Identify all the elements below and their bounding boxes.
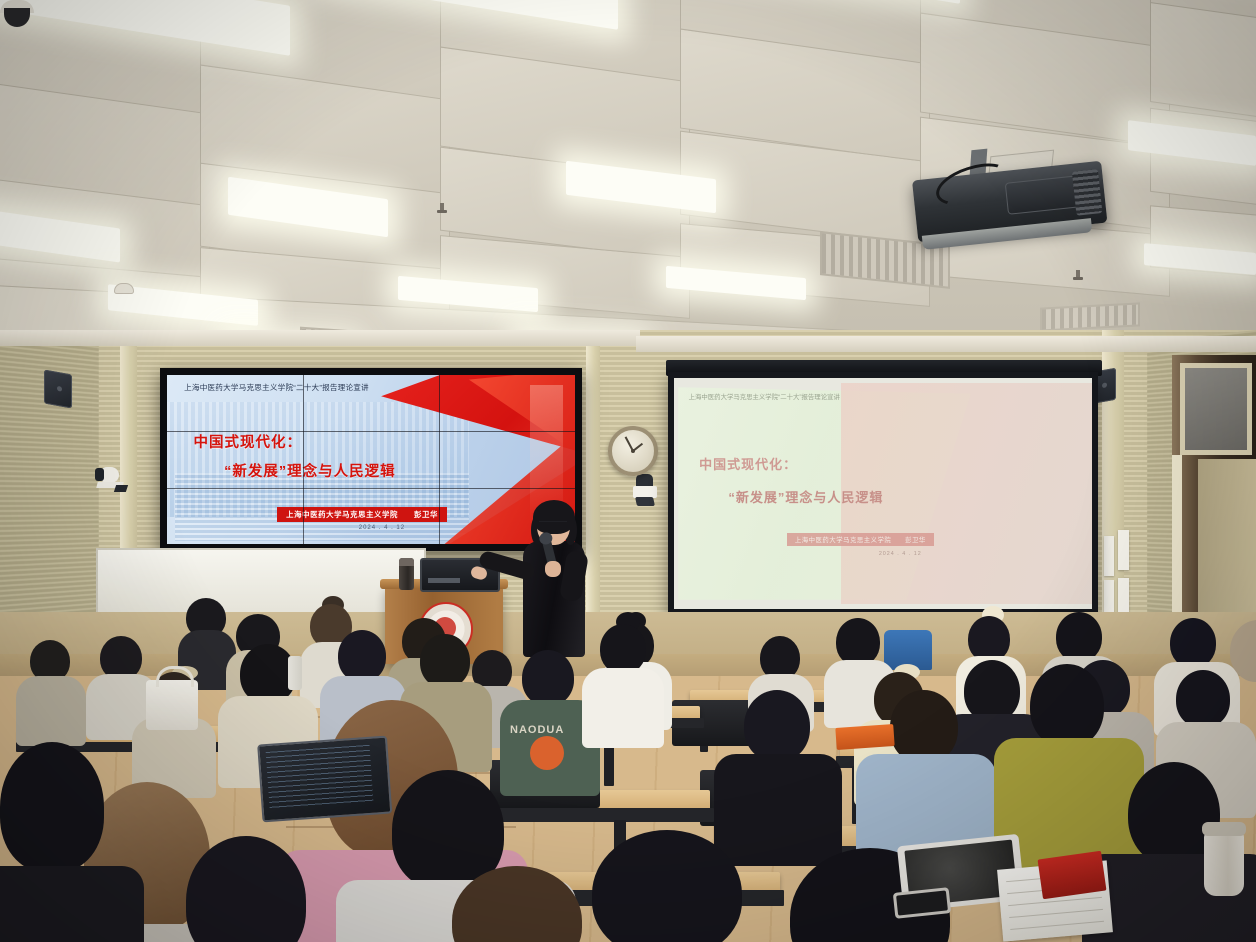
projector-vent bbox=[1072, 169, 1102, 215]
sprinkler-icon bbox=[1073, 270, 1083, 282]
lecturer bbox=[507, 505, 601, 657]
wall-clock bbox=[608, 426, 658, 476]
whiteboard bbox=[96, 548, 426, 620]
proj-header-text: 上海中医药大学马克思主义学院“二十大”报告理论宣讲 bbox=[689, 394, 931, 403]
paper-notice bbox=[1104, 580, 1114, 616]
air-vent bbox=[1040, 302, 1140, 331]
presentation-slide-projected: 上海中医药大学马克思主义学院“二十大”报告理论宣讲 中国式现代化： “新发展”理… bbox=[674, 378, 1092, 609]
lecture-hall-photo: 上海中医药大学马克思主义学院“二十大”报告理论宣讲 中国式现代化： “新发展”理… bbox=[0, 0, 1256, 942]
transom-window bbox=[1180, 363, 1252, 455]
student-laptop[interactable] bbox=[257, 736, 393, 831]
paper-notice bbox=[1118, 530, 1129, 570]
tote-bag bbox=[146, 680, 198, 730]
paper-notice bbox=[1104, 536, 1114, 576]
proj-date: 2024 . 4 . 12 bbox=[879, 551, 922, 557]
wall-soffit bbox=[0, 330, 640, 346]
slide-header-text: 上海中医药大学马克思主义学院“二十大”报告理论宣讲 bbox=[184, 383, 437, 393]
tracking-camera-center bbox=[633, 474, 657, 508]
laptop-screen bbox=[257, 736, 392, 823]
slide-title-line2: “新发展”理念与人民逻辑 bbox=[224, 460, 396, 481]
thermos-cup[interactable] bbox=[399, 558, 414, 590]
jacket-graphic bbox=[530, 736, 564, 770]
sprinkler-icon bbox=[437, 203, 447, 215]
lecturer-right-hand bbox=[545, 561, 561, 577]
slide-date: 2024 . 4 . 12 bbox=[359, 525, 405, 531]
tracking-camera-left bbox=[95, 465, 127, 493]
orange-book bbox=[835, 724, 894, 750]
proj-title-line1: 中国式现代化： bbox=[699, 454, 797, 473]
wall-speaker-left bbox=[44, 370, 72, 409]
room-door[interactable] bbox=[1172, 355, 1256, 655]
slide-credit-bar: 上海中医药大学马克思主义学院 彭卫华 bbox=[277, 507, 447, 522]
smoke-detector-icon bbox=[114, 283, 134, 294]
paper-notice bbox=[1118, 578, 1129, 614]
laptop-screen-content bbox=[266, 745, 374, 810]
ceiling bbox=[0, 0, 1256, 380]
eyeglasses-icon bbox=[539, 521, 567, 529]
water-bottle[interactable] bbox=[288, 656, 302, 690]
proj-title-line2: “新发展”理念与人民逻辑 bbox=[728, 487, 883, 506]
proj-credit-bar: 上海中医药大学马克思主义学院 彭卫华 bbox=[787, 533, 934, 546]
drink-cup[interactable] bbox=[1204, 822, 1244, 896]
wall-soffit bbox=[636, 336, 1256, 352]
jacket-text: NAODUA bbox=[510, 724, 564, 736]
phone-screen bbox=[896, 890, 948, 915]
projection-screen[interactable]: 上海中医药大学马克思主义学院“二十大”报告理论宣讲 中国式现代化： “新发展”理… bbox=[668, 372, 1098, 615]
slide-title-line1: 中国式现代化： bbox=[194, 431, 303, 452]
